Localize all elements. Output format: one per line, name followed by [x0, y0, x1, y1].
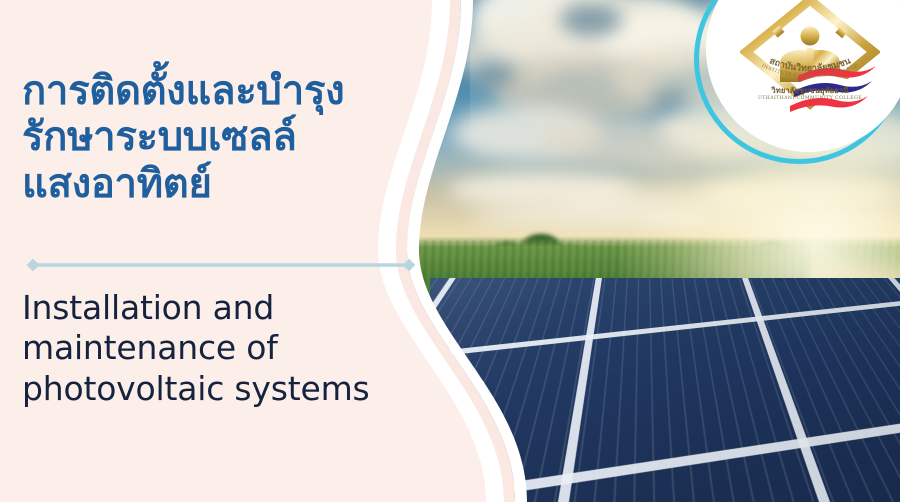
english-title-line-3: photovoltaic systems: [22, 369, 442, 409]
english-title-line-2: maintenance of: [22, 328, 442, 368]
thai-title-line-2: รักษาระบบเซลล์: [22, 114, 422, 160]
thai-title-line-1: การติดตั้งและบำรุง: [22, 68, 422, 114]
thai-title-line-3: แสงอาทิตย์: [22, 161, 422, 207]
english-title-line-1: Installation and: [22, 288, 442, 328]
solar-panel-array: [430, 278, 900, 502]
thai-title: การติดตั้งและบำรุง รักษาระบบเซลล์ แสงอาท…: [22, 68, 422, 207]
decorative-rule: [26, 258, 416, 272]
rule-diamond-right: [403, 259, 416, 272]
cover-page: การติดตั้งและบำรุง รักษาระบบเซลล์ แสงอาท…: [0, 0, 900, 502]
logo-badge: สถาบันวิทยาลัยชุมชน INSTITUTE COMMUNITY …: [694, 0, 900, 164]
institute-name-arc: สถาบันวิทยาลัยชุมชน INSTITUTE COMMUNITY …: [744, 48, 876, 88]
english-title: Installation and maintenance of photovol…: [22, 288, 442, 409]
college-logo: สถาบันวิทยาลัยชุมชน INSTITUTE COMMUNITY …: [740, 0, 880, 140]
rule-diamond-left: [27, 259, 40, 272]
text-column: การติดตั้งและบำรุง รักษาระบบเซลล์ แสงอาท…: [22, 0, 422, 502]
college-name-en: UTHAITHANI COMMUNITY COLLEGE: [740, 96, 880, 101]
